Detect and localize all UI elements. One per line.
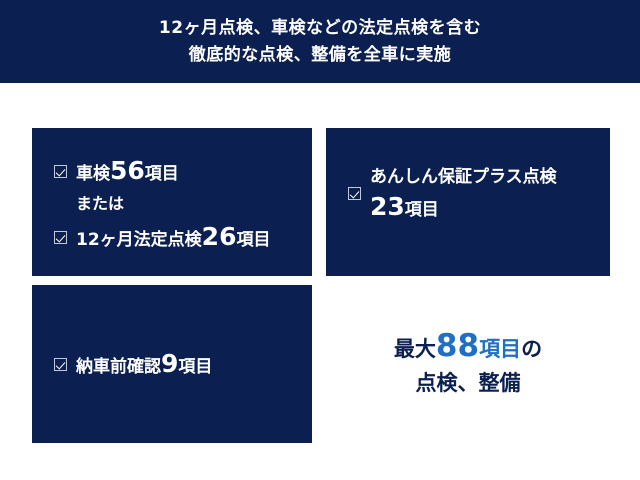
summary-unit: 項目 — [479, 332, 521, 366]
warranty-line-1: あんしん保証プラス点検 — [370, 162, 557, 192]
checkbox-icon — [54, 358, 67, 371]
card-inspection: 車検56項目 または 12ヶ月法定点検26項目 — [32, 128, 312, 276]
inspection-item-1: 車検56項目 — [54, 158, 312, 184]
summary-line-2: 点検、整備 — [416, 366, 521, 400]
summary-line-1: 最大88項目の — [394, 329, 542, 366]
summary-prefix: 最大 — [394, 332, 436, 366]
header-line-2: 徹底的な点検、整備を全車に実施 — [189, 42, 452, 69]
inspection-item-2: 12ヶ月法定点検26項目 — [54, 224, 312, 250]
checkbox-icon — [348, 187, 361, 200]
predelivery-item: 納車前確認9項目 — [54, 351, 212, 377]
warranty-body: あんしん保証プラス点検 23項目 — [348, 162, 610, 225]
checkbox-icon — [54, 165, 67, 178]
card-predelivery: 納車前確認9項目 — [32, 285, 312, 443]
predelivery-text: 納車前確認9項目 — [76, 351, 212, 377]
card-warranty: あんしん保証プラス点検 23項目 — [326, 128, 610, 276]
inspection-connector: または — [76, 194, 312, 214]
summary-block: 最大88項目の 点検、整備 — [326, 285, 610, 443]
inspection-item-1-text: 車検56項目 — [76, 158, 179, 184]
header-line-1: 12ヶ月点検、車検などの法定点検を含む — [159, 15, 481, 42]
summary-number: 88 — [436, 329, 479, 363]
inspection-item-2-text: 12ヶ月法定点検26項目 — [76, 224, 270, 250]
checkbox-icon — [54, 231, 67, 244]
poster-root: 12ヶ月点検、車検などの法定点検を含む 徹底的な点検、整備を全車に実施 車検56… — [0, 0, 640, 480]
warranty-line-2: 23項目 — [370, 192, 557, 225]
summary-suffix: の — [521, 332, 542, 366]
warranty-lines: あんしん保証プラス点検 23項目 — [370, 162, 557, 225]
header-banner: 12ヶ月点検、車検などの法定点検を含む 徹底的な点検、整備を全車に実施 — [0, 0, 640, 83]
